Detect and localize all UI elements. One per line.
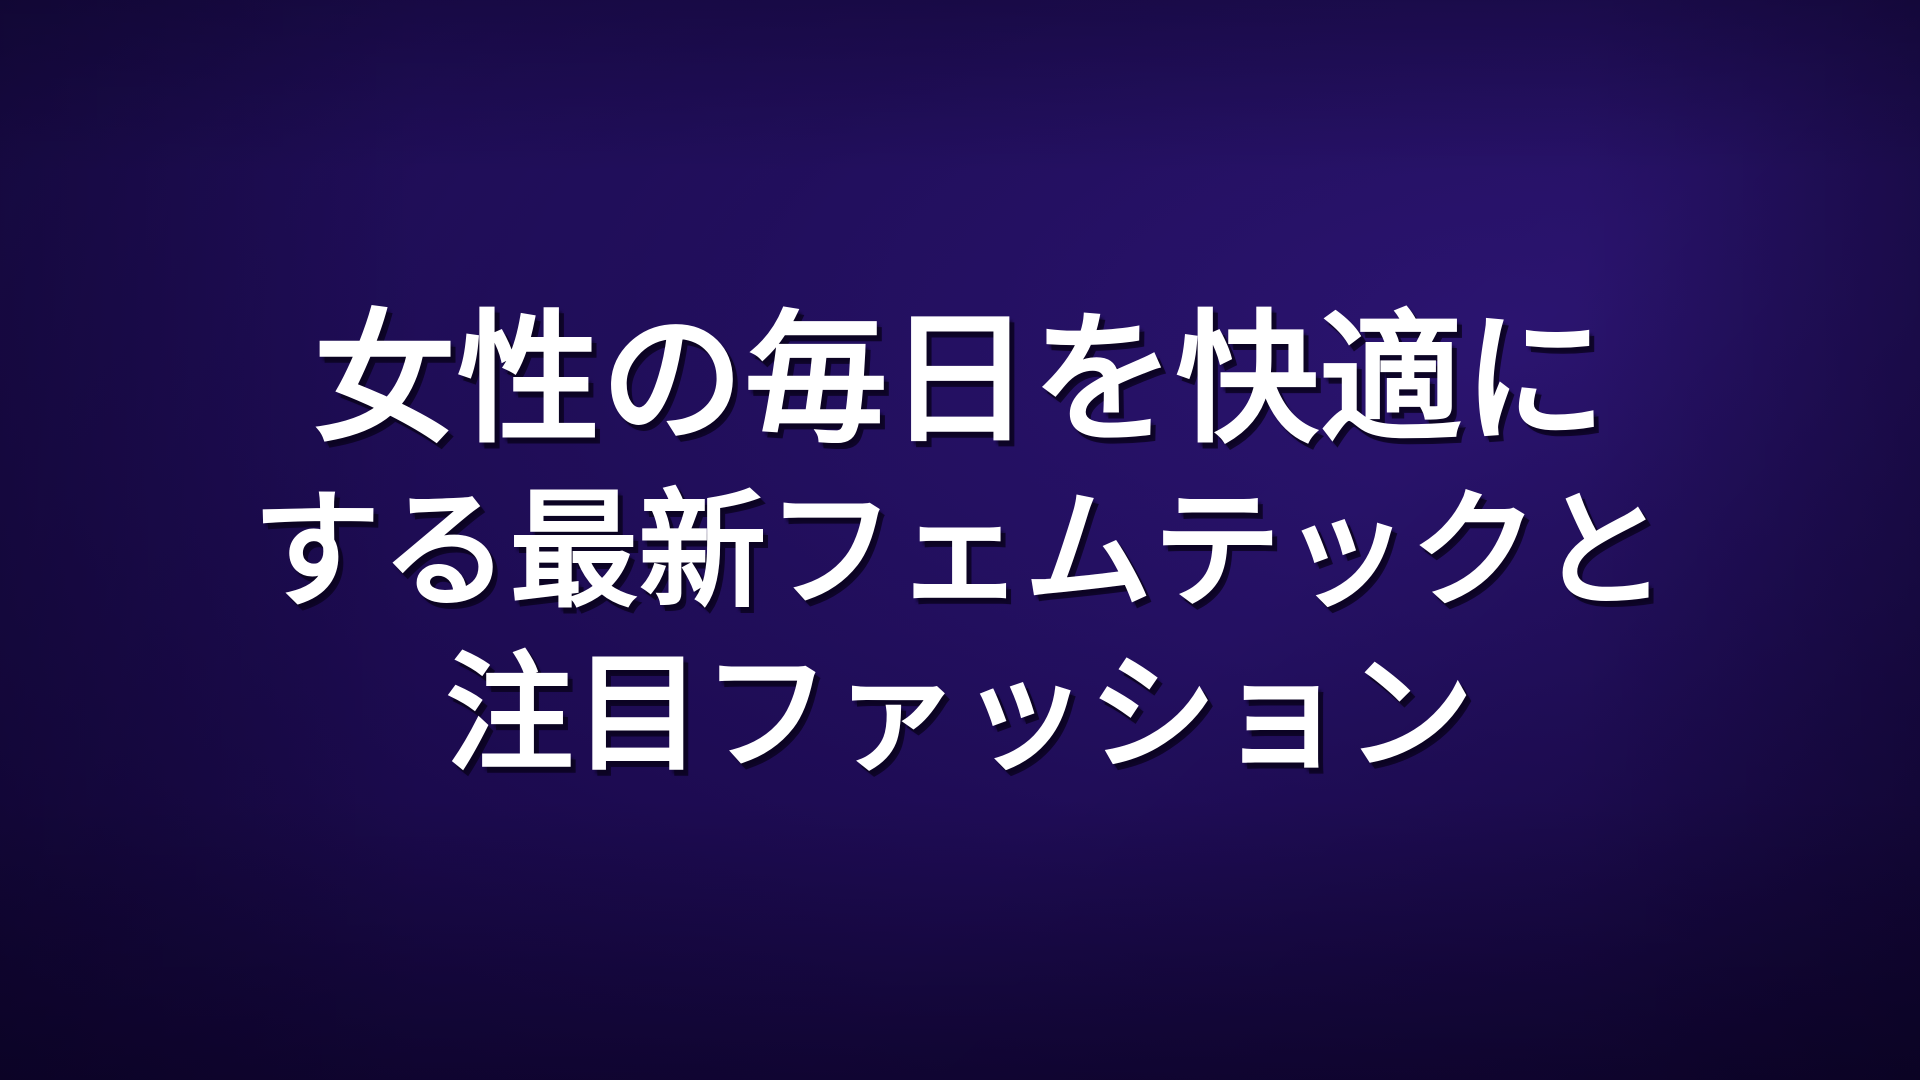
- headline-line-3: 注目ファッション: [445, 634, 1474, 797]
- banner-root: 女性の毎日を快適に する最新フェムテックと 注目ファッション: [0, 0, 1920, 1080]
- headline-line-1: 女性の毎日を快適に: [313, 290, 1606, 472]
- headline-line-2: する最新フェムテックと: [252, 471, 1667, 634]
- headline-block: 女性の毎日を快適に する最新フェムテックと 注目ファッション: [0, 0, 1920, 1080]
